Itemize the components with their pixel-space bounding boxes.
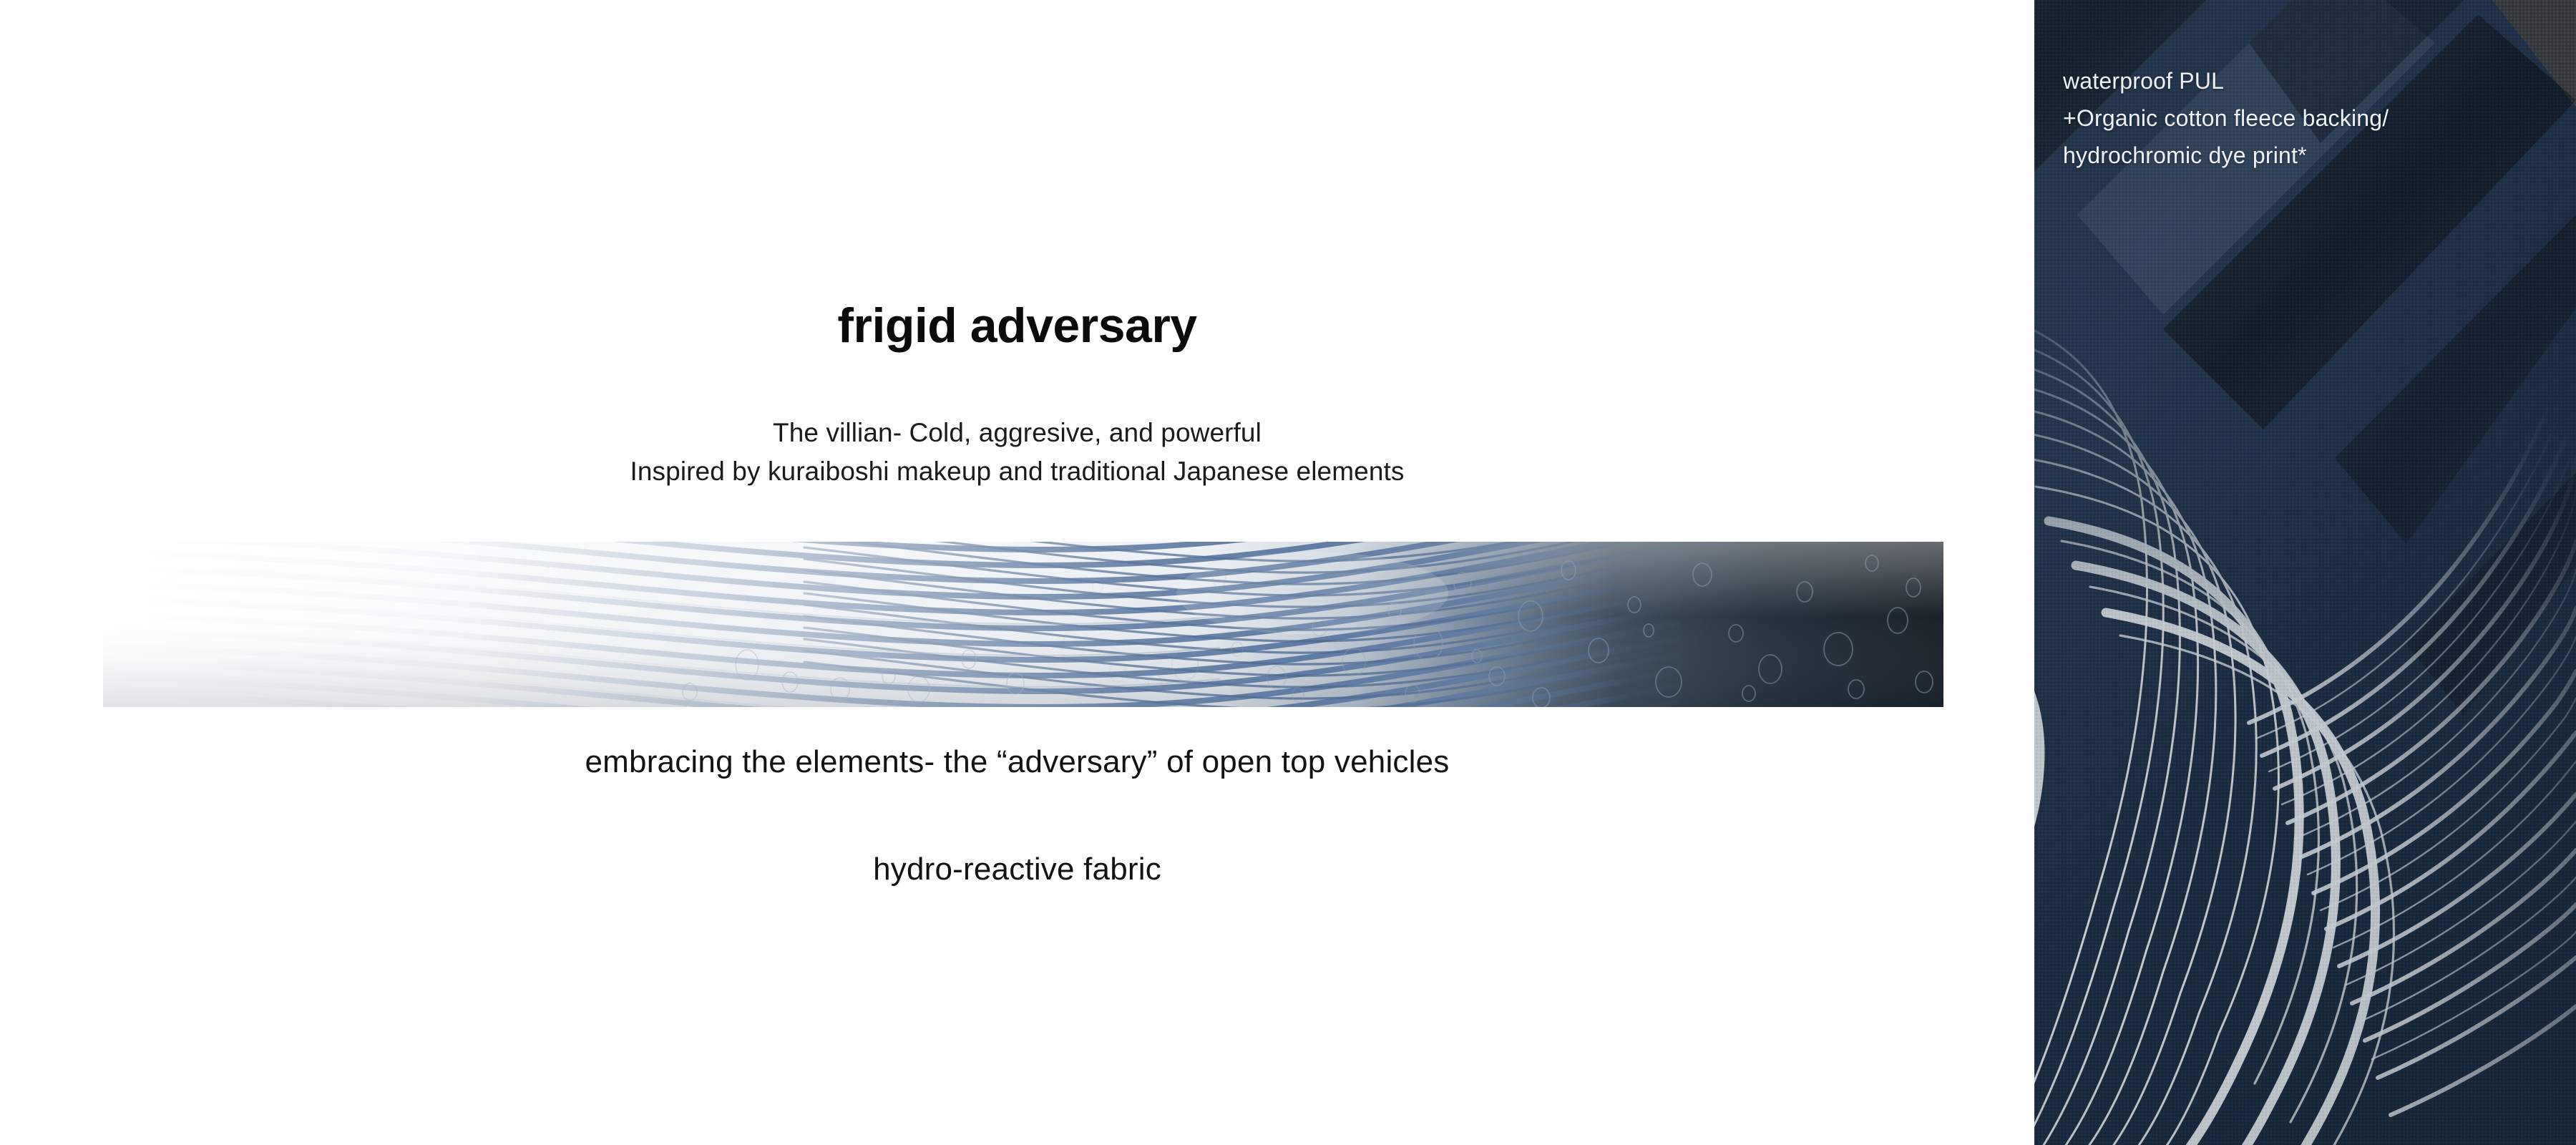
slide-canvas: frigid adversary The villian- Cold, aggr… [0,0,2576,1145]
fabric-spec-line-2: +Organic cotton fleece backing/ [2063,100,2557,137]
subtitle-block: The villian- Cold, aggresive, and powerf… [0,414,2034,490]
subtitle-line-1: The villian- Cold, aggresive, and powerf… [0,414,2034,452]
subtitle-line-2: Inspired by kuraiboshi makeup and tradit… [0,452,2034,491]
banner-artwork [103,542,1943,707]
caption-primary: embracing the elements- the “adversary” … [0,744,2034,780]
main-content-column: frigid adversary The villian- Cold, aggr… [0,0,2034,1145]
page-title: frigid adversary [0,301,2034,351]
fabric-spec-caption: waterproof PUL +Organic cotton fleece ba… [2063,63,2557,174]
hydro-reactive-fabric-banner [103,542,1943,707]
fabric-spec-line-1: waterproof PUL [2063,63,2557,100]
caption-secondary: hydro-reactive fabric [0,852,2034,887]
fabric-spec-line-3: hydrochromic dye print* [2063,137,2557,175]
fabric-swatch-panel: waterproof PUL +Organic cotton fleece ba… [2034,0,2576,1145]
